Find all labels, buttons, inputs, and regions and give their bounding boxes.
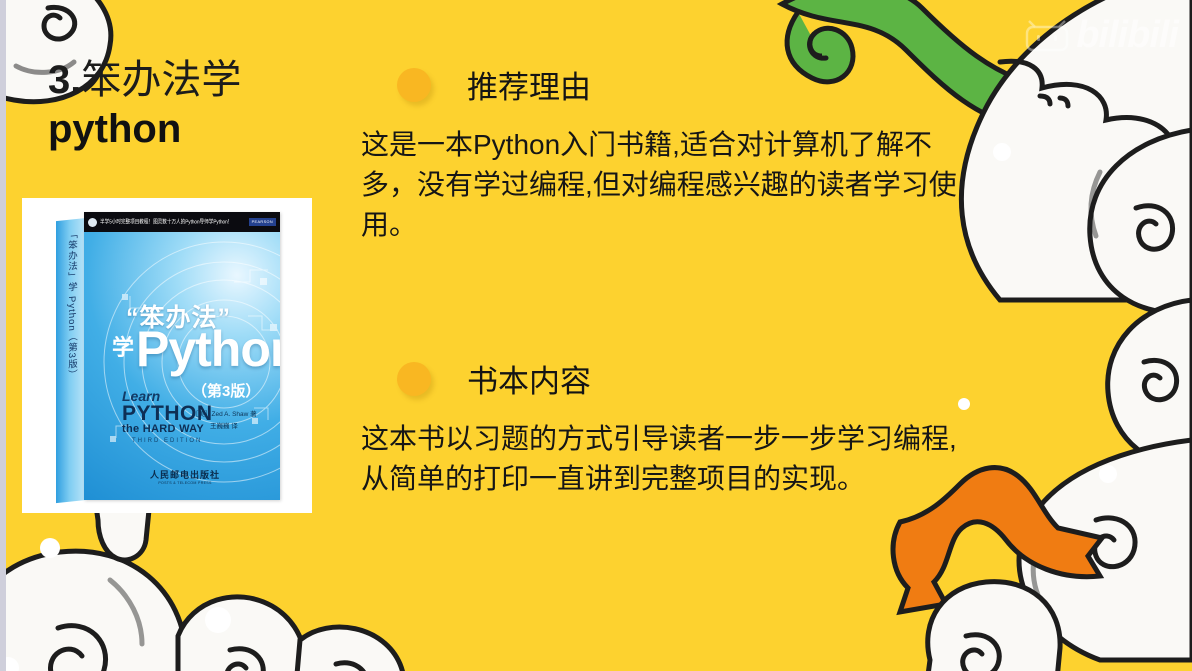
section-1-header: 推荐理由	[397, 62, 961, 107]
cover-third-edition: THIRD EDITION	[132, 438, 202, 444]
circle-bullet-icon	[397, 68, 431, 102]
book-spine-text: 「笨办法」学 Python（第3版）	[64, 229, 78, 460]
title-english: python	[48, 107, 348, 152]
cover-the-hard-way: the HARD WAY	[122, 423, 204, 435]
section-recommendation: 推荐理由 这是一本Python入门书籍,适合对计算机了解不多，没有学过编程,但对…	[397, 62, 961, 244]
title-chinese: 笨办法学	[81, 58, 241, 102]
book-top-banner: 半学5小时完整项目教程！图灵数十万人的Python导师学Python！ PEAR…	[84, 212, 280, 232]
publisher-cn: 人民邮电出版社	[140, 468, 230, 481]
section-book-content: 书本内容 这本书以习题的方式引导读者一步一步学习编程,从简单的打印一直讲到完整项…	[397, 356, 961, 499]
section-2-body: 这本书以习题的方式引导读者一步一步学习编程,从简单的打印一直讲到完整项目的实现。	[361, 419, 961, 499]
section-2-header: 书本内容	[397, 356, 961, 401]
cloud-doodle-right-edge	[1019, 130, 1192, 660]
banner-text: 半学5小时完整项目教程！图灵数十万人的Python导师学Python！	[100, 219, 249, 225]
slide-title: 3.笨办法学 python	[48, 58, 348, 152]
cloud-doodle-bottom-right	[926, 582, 1060, 671]
cover-author: ［美］Zed A. Shaw 著	[192, 408, 257, 418]
window-edge-strip	[0, 0, 6, 671]
section-1-title: 推荐理由	[467, 62, 591, 107]
cover-translator: 王巍巍 译	[210, 420, 238, 430]
banner-dot-icon	[88, 218, 97, 227]
slide-canvas: .dw { fill:#FAF9F6; stroke:#1d1d1d; stro…	[0, 0, 1192, 671]
title-number: 3.	[48, 58, 81, 102]
publisher-en: POSTS & TELECOM PRESS	[140, 481, 230, 485]
book-3d: 「笨办法」学 Python（第3版）	[56, 212, 280, 500]
lemon-doodle-top-right	[961, 0, 1192, 300]
cover-publisher: 人民邮电出版社 POSTS & TELECOM PRESS	[140, 468, 230, 485]
cover-python-title: Python	[136, 320, 280, 378]
cover-xue: 学	[112, 330, 134, 362]
book-front-cover: 半学5小时完整项目教程！图灵数十万人的Python导师学Python！ PEAR…	[84, 212, 280, 500]
section-2-title: 书本内容	[467, 356, 591, 401]
bilibili-watermark-text: bilibili	[1076, 14, 1178, 57]
bilibili-watermark: bilibili	[1024, 14, 1178, 57]
book-cover-image: 「笨办法」学 Python（第3版）	[22, 198, 312, 513]
circle-bullet-icon	[397, 362, 431, 396]
section-1-body: 这是一本Python入门书籍,适合对计算机了解不多，没有学过编程,但对编程感兴趣…	[361, 125, 961, 244]
book-spine: 「笨办法」学 Python（第3版）	[56, 218, 86, 503]
pearson-logo: PEARSON	[249, 218, 276, 226]
bilibili-logo-icon	[1024, 19, 1070, 53]
cover-edition: （第3版）	[192, 380, 260, 401]
